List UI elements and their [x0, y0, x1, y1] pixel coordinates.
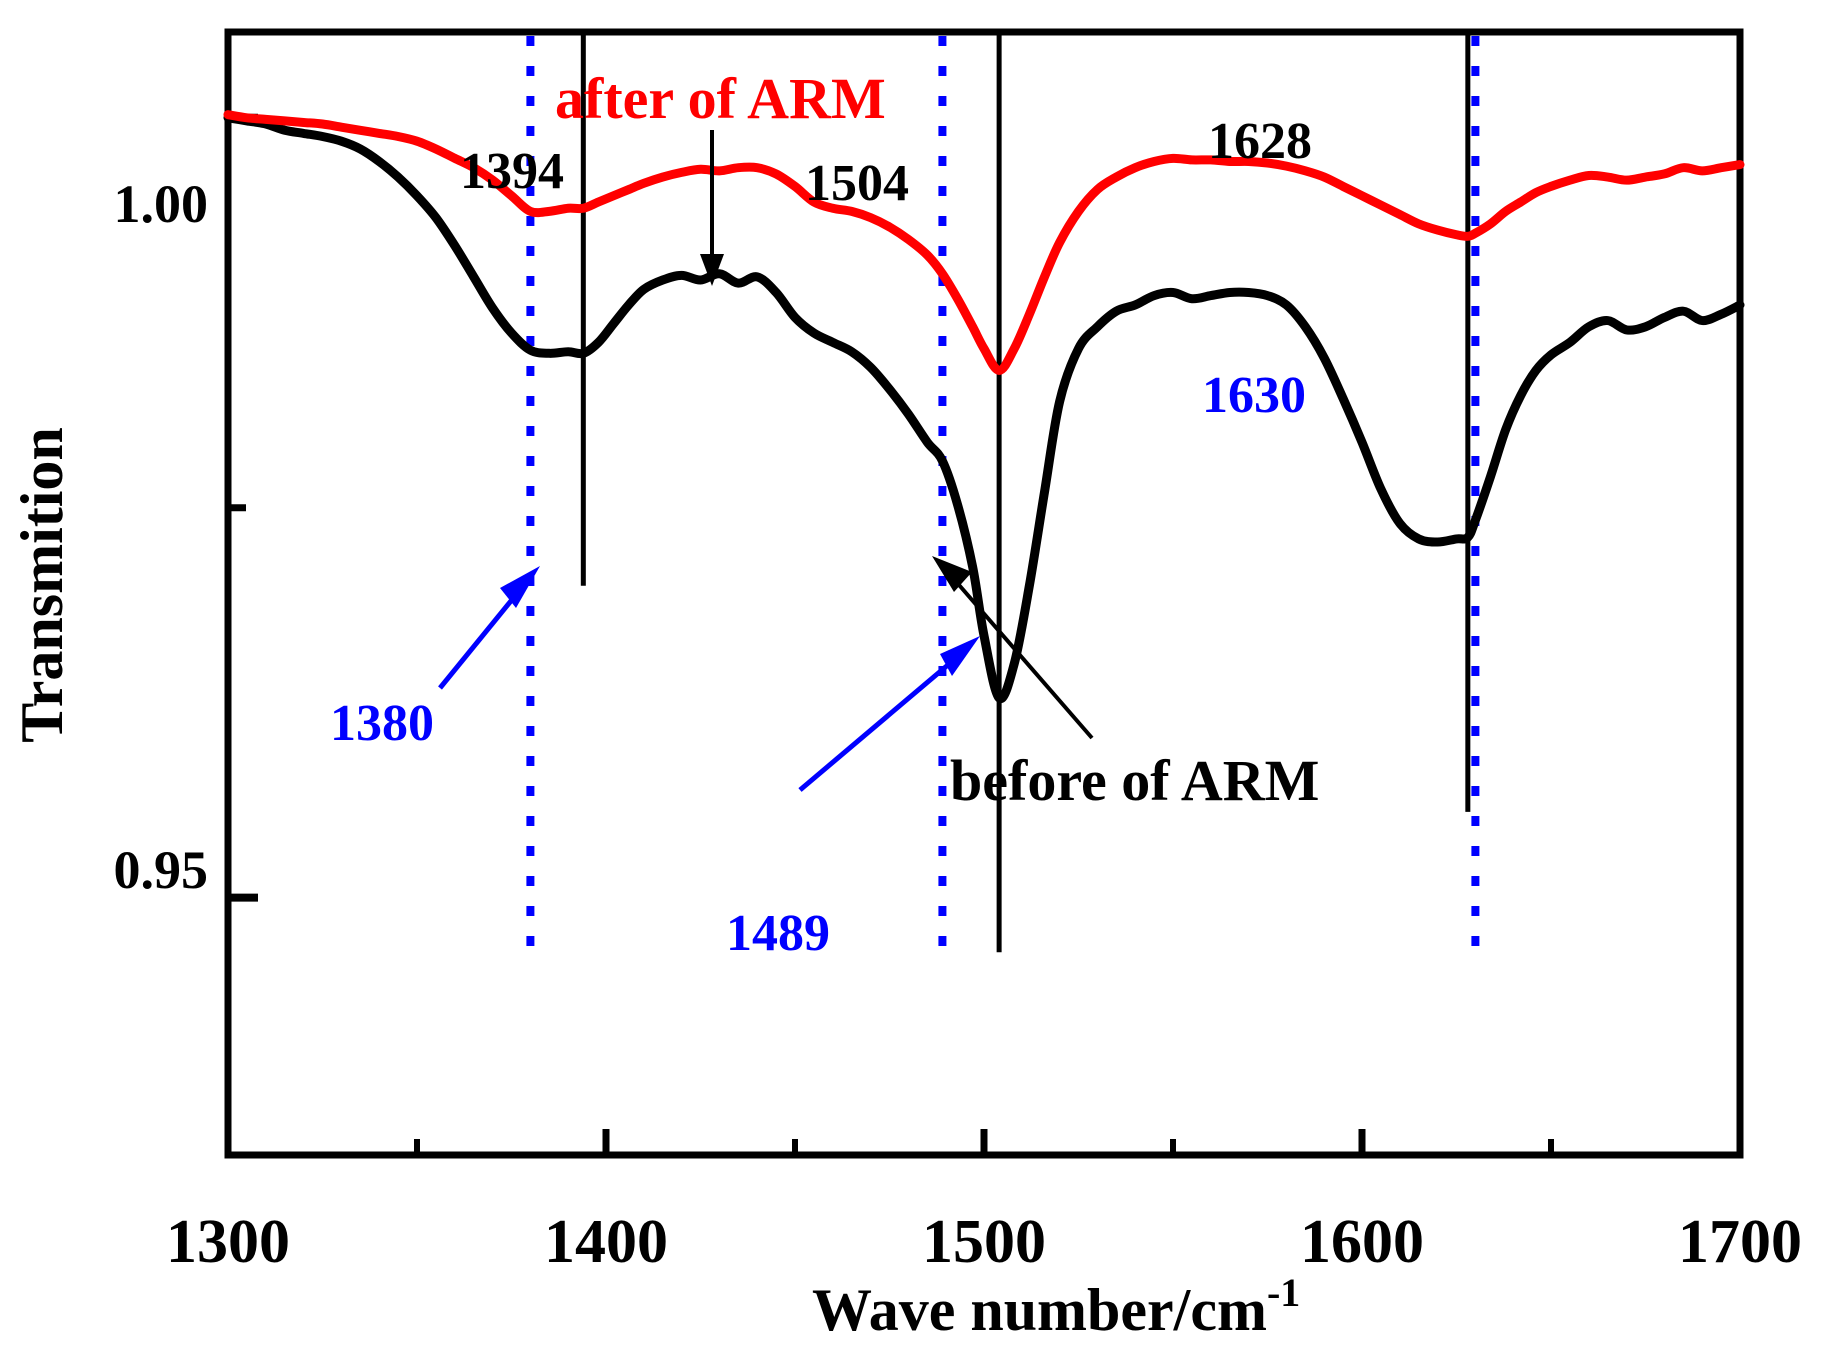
label-peak-1628: 1628 — [1208, 113, 1312, 170]
label-peak-1380: 1380 — [330, 695, 434, 752]
label-peak-1489: 1489 — [726, 905, 830, 962]
figure-root: after of ARM before of ARM 1394 1504 162… — [0, 0, 1821, 1350]
ytick-label-1.00: 1.00 — [114, 174, 209, 234]
xtick-label-1400: 1400 — [544, 1208, 668, 1276]
label-after-arm: after of ARM — [555, 66, 886, 131]
label-before-arm: before of ARM — [950, 748, 1319, 813]
xtick-label-1700: 1700 — [1678, 1208, 1802, 1276]
y-axis-title: Transmition — [9, 427, 75, 743]
label-peak-1394: 1394 — [460, 143, 564, 200]
label-peak-1504: 1504 — [805, 155, 909, 212]
x-axis-title-superscript: -1 — [1267, 1270, 1300, 1315]
label-peak-1630: 1630 — [1202, 367, 1306, 424]
ytick-label-0.95: 0.95 — [114, 840, 209, 900]
chart-background — [0, 0, 1821, 1350]
x-axis-title: Wave number/cm-1 — [812, 1270, 1300, 1343]
xtick-label-1500: 1500 — [922, 1208, 1046, 1276]
x-axis-title-main: Wave number/cm — [812, 1277, 1267, 1343]
xtick-label-1300: 1300 — [166, 1208, 290, 1276]
xtick-label-1600: 1600 — [1300, 1208, 1424, 1276]
ftir-spectrum-chart: after of ARM before of ARM 1394 1504 162… — [0, 0, 1821, 1350]
